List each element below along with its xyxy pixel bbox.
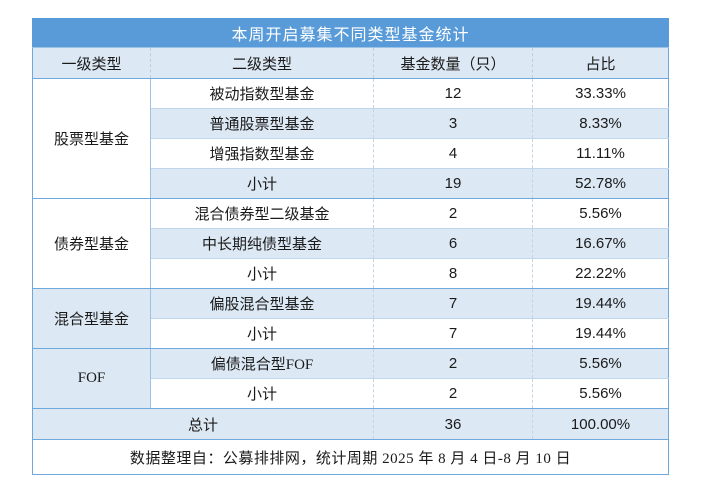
column-header-2: 基金数量（只） [374, 48, 533, 79]
secondary-type-cell: 被动指数型基金 [151, 79, 374, 109]
secondary-type-cell: 小计 [151, 169, 374, 199]
secondary-type-cell: 增强指数型基金 [151, 139, 374, 169]
fund-count-cell: 8 [374, 259, 533, 289]
secondary-type-cell: 偏股混合型基金 [151, 289, 374, 319]
share-cell: 19.44% [533, 319, 669, 349]
primary-type-cell: 股票型基金 [33, 79, 151, 199]
share-cell: 8.33% [533, 109, 669, 139]
fund-count-cell: 19 [374, 169, 533, 199]
table-row: 混合型基金偏股混合型基金719.44% [33, 289, 669, 319]
secondary-type-cell: 小计 [151, 259, 374, 289]
share-cell: 5.56% [533, 199, 669, 229]
share-cell: 5.56% [533, 379, 669, 409]
share-cell: 22.22% [533, 259, 669, 289]
table-title-row: 本周开启募集不同类型基金统计 [33, 19, 669, 48]
fund-count-cell: 6 [374, 229, 533, 259]
fund-statistics-table-container: 本周开启募集不同类型基金统计一级类型二级类型基金数量（只）占比股票型基金被动指数… [32, 18, 668, 475]
share-cell: 11.11% [533, 139, 669, 169]
secondary-type-cell: 混合债券型二级基金 [151, 199, 374, 229]
total-row: 总计36100.00% [33, 409, 669, 440]
total-share: 100.00% [533, 409, 669, 440]
secondary-type-cell: 小计 [151, 319, 374, 349]
fund-count-cell: 2 [374, 349, 533, 379]
fund-count-cell: 12 [374, 79, 533, 109]
share-cell: 5.56% [533, 349, 669, 379]
secondary-type-cell: 中长期纯债型基金 [151, 229, 374, 259]
total-count: 36 [374, 409, 533, 440]
fund-count-cell: 4 [374, 139, 533, 169]
secondary-type-cell: 偏债混合型FOF [151, 349, 374, 379]
share-cell: 33.33% [533, 79, 669, 109]
fund-count-cell: 2 [374, 199, 533, 229]
fund-count-cell: 3 [374, 109, 533, 139]
table-row: FOF偏债混合型FOF25.56% [33, 349, 669, 379]
share-cell: 19.44% [533, 289, 669, 319]
fund-count-cell: 7 [374, 319, 533, 349]
column-header-1: 二级类型 [151, 48, 374, 79]
table-title: 本周开启募集不同类型基金统计 [33, 19, 669, 48]
table-header-row: 一级类型二级类型基金数量（只）占比 [33, 48, 669, 79]
column-header-3: 占比 [533, 48, 669, 79]
table-row: 债券型基金混合债券型二级基金25.56% [33, 199, 669, 229]
primary-type-cell: 混合型基金 [33, 289, 151, 349]
secondary-type-cell: 普通股票型基金 [151, 109, 374, 139]
fund-statistics-table: 本周开启募集不同类型基金统计一级类型二级类型基金数量（只）占比股票型基金被动指数… [32, 18, 669, 475]
primary-type-cell: FOF [33, 349, 151, 409]
primary-type-cell: 债券型基金 [33, 199, 151, 289]
fund-count-cell: 2 [374, 379, 533, 409]
source-note: 数据整理自：公募排排网，统计周期 2025 年 8 月 4 日-8 月 10 日 [33, 440, 669, 475]
table-row: 股票型基金被动指数型基金1233.33% [33, 79, 669, 109]
secondary-type-cell: 小计 [151, 379, 374, 409]
share-cell: 16.67% [533, 229, 669, 259]
source-note-row: 数据整理自：公募排排网，统计周期 2025 年 8 月 4 日-8 月 10 日 [33, 440, 669, 475]
share-cell: 52.78% [533, 169, 669, 199]
fund-count-cell: 7 [374, 289, 533, 319]
screenshot-root: 本周开启募集不同类型基金统计一级类型二级类型基金数量（只）占比股票型基金被动指数… [0, 0, 701, 485]
total-label: 总计 [33, 409, 374, 440]
column-header-0: 一级类型 [33, 48, 151, 79]
